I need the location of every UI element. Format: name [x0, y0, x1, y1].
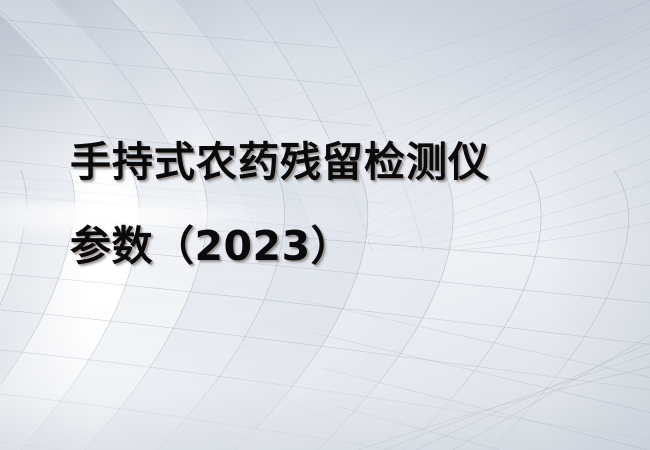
title-banner: 手持式农药残留检测仪 参数（2023） [0, 0, 650, 450]
title-line-secondary: 参数（2023） [70, 204, 590, 288]
title-line-primary: 手持式农药残留检测仪 [70, 120, 590, 204]
title-block: 手持式农药残留检测仪 参数（2023） [70, 120, 590, 288]
